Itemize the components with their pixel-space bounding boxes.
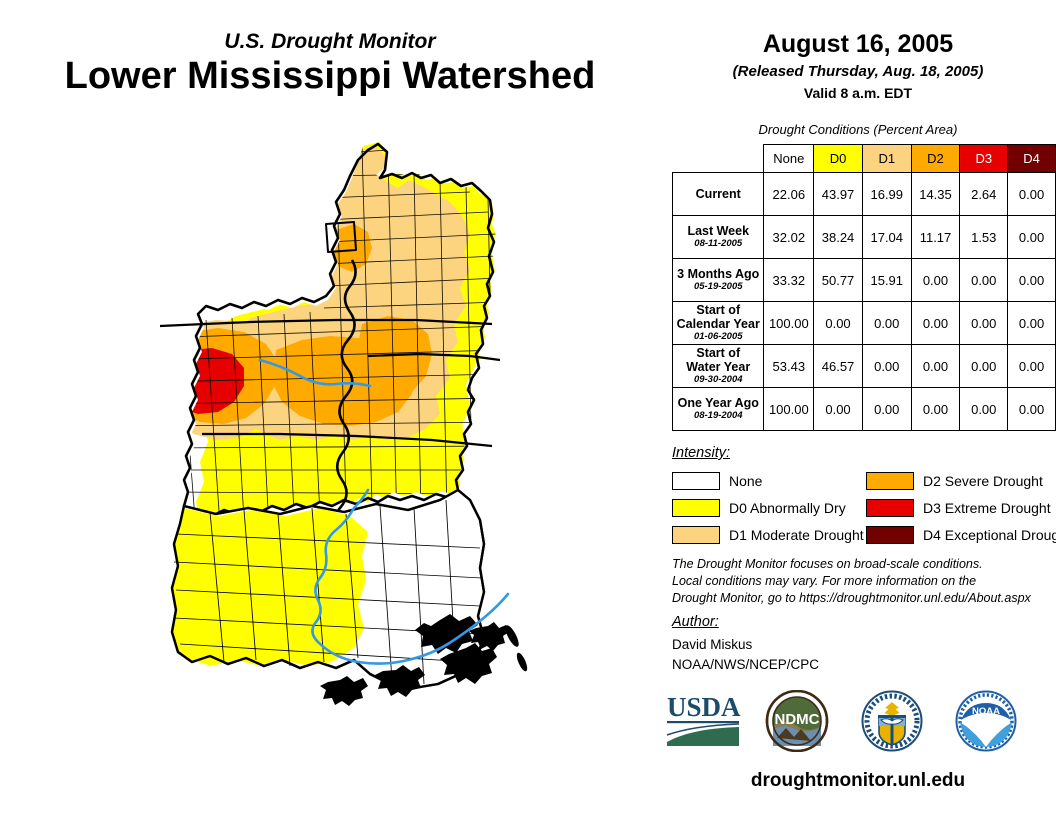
table-cell-d4: 0.00 <box>1008 388 1056 431</box>
row-date: 01-06-2005 <box>673 332 763 343</box>
release-date: (Released Thursday, Aug. 18, 2005) <box>660 62 1056 82</box>
noaa-logo-icon: NOAA <box>955 690 1017 752</box>
row-label: Calendar Year <box>673 317 763 331</box>
row-label: 3 Months Ago <box>673 267 763 281</box>
row-label: Last Week <box>673 224 763 238</box>
table-row: One Year Ago08-19-2004100.000.000.000.00… <box>673 388 1056 431</box>
row-label: One Year Ago <box>673 396 763 410</box>
table-cell-none: 32.02 <box>764 216 814 259</box>
table-cell-d0: 43.97 <box>814 173 863 216</box>
table-cell-d1: 0.00 <box>862 388 911 431</box>
table-cell-d1: 17.04 <box>862 216 911 259</box>
table-cell-d0: 46.57 <box>814 345 863 388</box>
table-cell-d4: 0.00 <box>1008 216 1056 259</box>
table-cell-d4: 0.00 <box>1008 302 1056 345</box>
table-caption: Drought Conditions (Percent Area) <box>660 122 1056 137</box>
row-label-cell: Start ofWater Year09-30-2004 <box>673 345 764 388</box>
website-url: droughtmonitor.unl.edu <box>660 770 1056 792</box>
row-date: 08-19-2004 <box>673 411 763 422</box>
legend-item-d2: D2 Severe Drought <box>866 468 1056 493</box>
row-label-cell: Start ofCalendar Year01-06-2005 <box>673 302 764 345</box>
legend-item-d0: D0 Abnormally Dry <box>672 495 864 520</box>
row-label-cell: One Year Ago08-19-2004 <box>673 388 764 431</box>
legend-label-none: None <box>729 473 762 489</box>
table-cell-d3: 0.00 <box>960 302 1008 345</box>
table-cell-d2: 11.17 <box>911 216 960 259</box>
table-cell-d2: 0.00 <box>911 345 960 388</box>
column-header-d0: D0 <box>814 145 863 173</box>
row-label: Current <box>673 187 763 201</box>
table-cell-d0: 38.24 <box>814 216 863 259</box>
page-title: Lower Mississippi Watershed <box>0 55 660 98</box>
column-header-d4: D4 <box>1008 145 1056 173</box>
row-label: Water Year <box>673 360 763 374</box>
legend-swatch-none <box>672 472 720 490</box>
legend-item-d1: D1 Moderate Drought <box>672 522 864 547</box>
drought-map-svg <box>140 128 640 808</box>
legend-label-d1: D1 Moderate Drought <box>729 527 864 543</box>
table-cell-none: 100.00 <box>764 302 814 345</box>
ndmc-logo-icon: NDMC <box>765 690 829 752</box>
note-line-3: Drought Monitor, go to https://droughtmo… <box>672 590 1052 607</box>
author-affiliation: NOAA/NWS/NCEP/CPC <box>672 655 819 675</box>
table-cell-d4: 0.00 <box>1008 173 1056 216</box>
svg-text:USDA: USDA <box>667 692 741 722</box>
column-header-d2: D2 <box>911 145 960 173</box>
logo-row: USDA NDMC <box>665 690 1050 758</box>
table-cell-d3: 0.00 <box>960 388 1008 431</box>
legend-label-d3: D3 Extreme Drought <box>923 500 1051 516</box>
table-cell-none: 22.06 <box>764 173 814 216</box>
table-cell-d0: 50.77 <box>814 259 863 302</box>
legend-item-none: None <box>672 468 864 493</box>
table-cell-d1: 16.99 <box>862 173 911 216</box>
table-cell-none: 33.32 <box>764 259 814 302</box>
table-cell-d0: 0.00 <box>814 302 863 345</box>
table-body: Current22.0643.9716.9914.352.640.00Last … <box>673 173 1056 431</box>
table-cell-d3: 2.64 <box>960 173 1008 216</box>
svg-text:NDMC: NDMC <box>775 711 820 728</box>
table-corner-cell <box>673 145 764 173</box>
title-block: U.S. Drought Monitor Lower Mississippi W… <box>0 30 660 98</box>
ndmc-logo: NDMC <box>765 690 829 757</box>
drought-map <box>140 128 640 808</box>
legend-label-d4: D4 Exceptional Drought <box>923 527 1056 543</box>
author-heading: Author: <box>672 614 719 630</box>
row-label-cell: 3 Months Ago05-19-2005 <box>673 259 764 302</box>
author-name: David Miskus <box>672 635 819 655</box>
table-cell-d4: 0.00 <box>1008 345 1056 388</box>
table-header-row: None D0 D1 D2 D3 D4 <box>673 145 1056 173</box>
legend-swatch-d3 <box>866 499 914 517</box>
table-cell-d1: 0.00 <box>862 345 911 388</box>
table-row: 3 Months Ago05-19-200533.3250.7715.910.0… <box>673 259 1056 302</box>
row-label: Start of <box>673 303 763 317</box>
table-cell-none: 100.00 <box>764 388 814 431</box>
legend-swatch-d1 <box>672 526 720 544</box>
table-cell-d2: 0.00 <box>911 388 960 431</box>
table-cell-d1: 15.91 <box>862 259 911 302</box>
valid-time: Valid 8 a.m. EDT <box>660 84 1056 102</box>
drought-conditions-table: None D0 D1 D2 D3 D4 Current22.0643.9716.… <box>672 144 1056 431</box>
row-date: 05-19-2005 <box>673 282 763 293</box>
table-cell-d3: 0.00 <box>960 259 1008 302</box>
table-cell-d1: 0.00 <box>862 302 911 345</box>
row-label-cell: Last Week08-11-2005 <box>673 216 764 259</box>
column-header-d1: D1 <box>862 145 911 173</box>
usda-logo: USDA <box>665 690 745 755</box>
row-date: 09-30-2004 <box>673 375 763 386</box>
legend-swatch-d0 <box>672 499 720 517</box>
column-header-none: None <box>764 145 814 173</box>
row-label: Start of <box>673 346 763 360</box>
noaa-logo: NOAA <box>955 690 1017 757</box>
usda-logo-icon: USDA <box>665 690 745 750</box>
usdc-logo <box>861 690 923 757</box>
table-cell-d4: 0.00 <box>1008 259 1056 302</box>
legend-column-left: NoneD0 Abnormally DryD1 Moderate Drought <box>672 468 864 549</box>
table-row: Start ofCalendar Year01-06-2005100.000.0… <box>673 302 1056 345</box>
legend-item-d3: D3 Extreme Drought <box>866 495 1056 520</box>
table-cell-d2: 0.00 <box>911 259 960 302</box>
table-cell-none: 53.43 <box>764 345 814 388</box>
svg-text:NOAA: NOAA <box>972 706 1000 717</box>
table-row: Start ofWater Year09-30-200453.4346.570.… <box>673 345 1056 388</box>
legend-label-d0: D0 Abnormally Dry <box>729 500 846 516</box>
legend-swatch-d2 <box>866 472 914 490</box>
legend-column-right: D2 Severe DroughtD3 Extreme DroughtD4 Ex… <box>866 468 1056 549</box>
table-cell-d2: 0.00 <box>911 302 960 345</box>
column-header-d3: D3 <box>960 145 1008 173</box>
legend-item-d4: D4 Exceptional Drought <box>866 522 1056 547</box>
row-date: 08-11-2005 <box>673 239 763 250</box>
author-block: David Miskus NOAA/NWS/NCEP/CPC <box>672 635 819 676</box>
table-row: Current22.0643.9716.9914.352.640.00 <box>673 173 1056 216</box>
row-label-cell: Current <box>673 173 764 216</box>
table-cell-d2: 14.35 <box>911 173 960 216</box>
disclaimer-note: The Drought Monitor focuses on broad-sca… <box>672 556 1052 607</box>
table-row: Last Week08-11-200532.0238.2417.0411.171… <box>673 216 1056 259</box>
date-block: August 16, 2005 (Released Thursday, Aug.… <box>660 30 1056 102</box>
table-cell-d3: 1.53 <box>960 216 1008 259</box>
usdc-logo-icon <box>861 690 923 752</box>
table-cell-d0: 0.00 <box>814 388 863 431</box>
legend-swatch-d4 <box>866 526 914 544</box>
note-line-2: Local conditions may vary. For more info… <box>672 573 1052 590</box>
note-line-1: The Drought Monitor focuses on broad-sca… <box>672 556 1052 573</box>
table-cell-d3: 0.00 <box>960 345 1008 388</box>
page-subtitle: U.S. Drought Monitor <box>0 30 660 53</box>
map-date: August 16, 2005 <box>660 30 1056 59</box>
legend-label-d2: D2 Severe Drought <box>923 473 1043 489</box>
intensity-heading: Intensity: <box>672 445 730 461</box>
